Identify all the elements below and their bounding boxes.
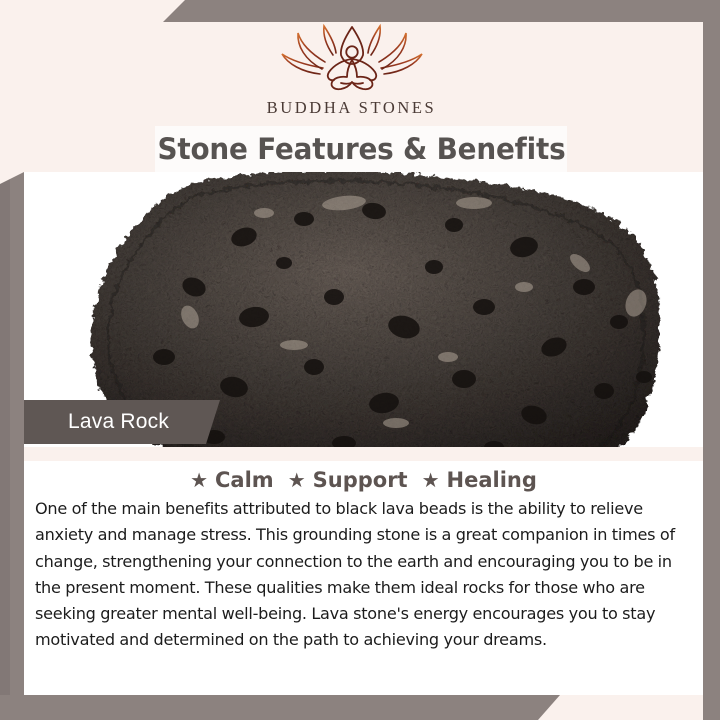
section-divider bbox=[24, 447, 703, 461]
title-banner: Stone Features & Benefits bbox=[155, 126, 567, 172]
lotus-meditation-figure-icon bbox=[277, 22, 427, 96]
star-icon: ★ bbox=[422, 470, 440, 490]
star-icon: ★ bbox=[288, 470, 306, 490]
frame-right-bar bbox=[703, 0, 720, 720]
page-title: Stone Features & Benefits bbox=[157, 132, 565, 166]
brand-name: BUDDHA STONES bbox=[267, 98, 437, 118]
star-icon: ★ bbox=[190, 470, 208, 490]
keyword-item-support: ★ Support bbox=[288, 468, 408, 492]
benefits-description: One of the main benefits attributed to b… bbox=[35, 496, 697, 654]
stone-name-label: Lava Rock bbox=[68, 410, 169, 434]
infographic-card: BUDDHA STONES Stone Features & Benefits bbox=[0, 0, 720, 720]
keyword-label: Support bbox=[313, 468, 408, 492]
frame-bottom-bar bbox=[0, 695, 720, 720]
keyword-label: Healing bbox=[447, 468, 537, 492]
keyword-label: Calm bbox=[215, 468, 274, 492]
frame-left-bevel bbox=[0, 172, 10, 696]
benefits-section: ★ Calm ★ Support ★ Healing One of the ma… bbox=[24, 461, 703, 695]
brand-logo-block: BUDDHA STONES bbox=[0, 22, 703, 118]
keyword-list: ★ Calm ★ Support ★ Healing bbox=[24, 461, 703, 492]
keyword-item-calm: ★ Calm bbox=[190, 468, 274, 492]
keyword-item-healing: ★ Healing bbox=[422, 468, 537, 492]
stone-name-banner: Lava Rock bbox=[24, 400, 220, 444]
